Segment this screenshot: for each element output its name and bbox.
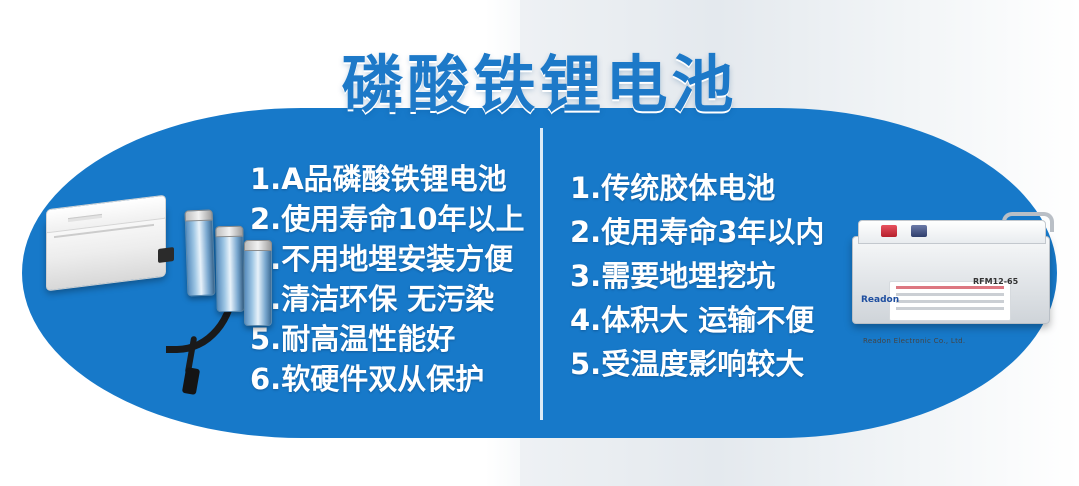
list-item: 3.需要地埋挖坑 bbox=[570, 256, 880, 297]
cell-cap bbox=[185, 210, 213, 222]
lithium-battery-product-image bbox=[38, 196, 238, 396]
negative-terminal bbox=[911, 225, 927, 237]
battery-plug bbox=[182, 367, 200, 395]
right-feature-list: 1.传统胶体电池 2.使用寿命3年以内 3.需要地埋挖坑 4.体积大 运输不便 … bbox=[570, 168, 880, 388]
list-item: 4.体积大 运输不便 bbox=[570, 300, 880, 341]
list-item: 4.清洁环保 无污染 bbox=[250, 280, 550, 318]
page-title: 磷酸铁锂电池 bbox=[0, 34, 1079, 124]
list-item: 1.A品磷酸铁锂电池 bbox=[250, 160, 550, 198]
left-feature-list: 1.A品磷酸铁锂电池 2.使用寿命10年以上 3.不用地埋安装方便 4.清洁环保… bbox=[250, 160, 550, 400]
gel-battery-top bbox=[858, 220, 1046, 244]
lithium-cell bbox=[244, 240, 272, 326]
battery-label bbox=[889, 281, 1011, 321]
list-item: 2.使用寿命10年以上 bbox=[250, 200, 550, 238]
list-item: 5.耐高温性能好 bbox=[250, 320, 550, 358]
gel-battery-product-image: Readon RFM12-65 Readon Electronic Co., L… bbox=[852, 210, 1062, 360]
label-stripe bbox=[896, 286, 1004, 289]
label-stripe bbox=[896, 300, 1004, 303]
list-item: 5.受温度影响较大 bbox=[570, 344, 880, 385]
battery-footer-text: Readon Electronic Co., Ltd. bbox=[863, 337, 965, 345]
gel-battery-body: Readon RFM12-65 Readon Electronic Co., L… bbox=[852, 236, 1050, 324]
battery-brand-text: Readon bbox=[861, 295, 899, 305]
label-stripe bbox=[896, 293, 1004, 296]
cell-cap bbox=[244, 240, 272, 251]
list-item: 2.使用寿命3年以内 bbox=[570, 212, 880, 253]
cell-cap bbox=[215, 226, 243, 237]
list-item: 3.不用地埋安装方便 bbox=[250, 240, 550, 278]
positive-terminal bbox=[881, 225, 897, 237]
lithium-cell bbox=[215, 226, 244, 312]
list-item: 6.软硬件双从保护 bbox=[250, 360, 550, 398]
battery-model-text: RFM12-65 bbox=[973, 277, 1018, 286]
poster-canvas: 磷酸铁锂电池 1.A品磷酸铁锂电池 2.使用寿命10年以上 3.不用地埋安装方便… bbox=[0, 0, 1079, 486]
lithium-cell bbox=[185, 210, 216, 297]
label-stripe bbox=[896, 307, 1004, 310]
list-item: 1.传统胶体电池 bbox=[570, 168, 880, 209]
